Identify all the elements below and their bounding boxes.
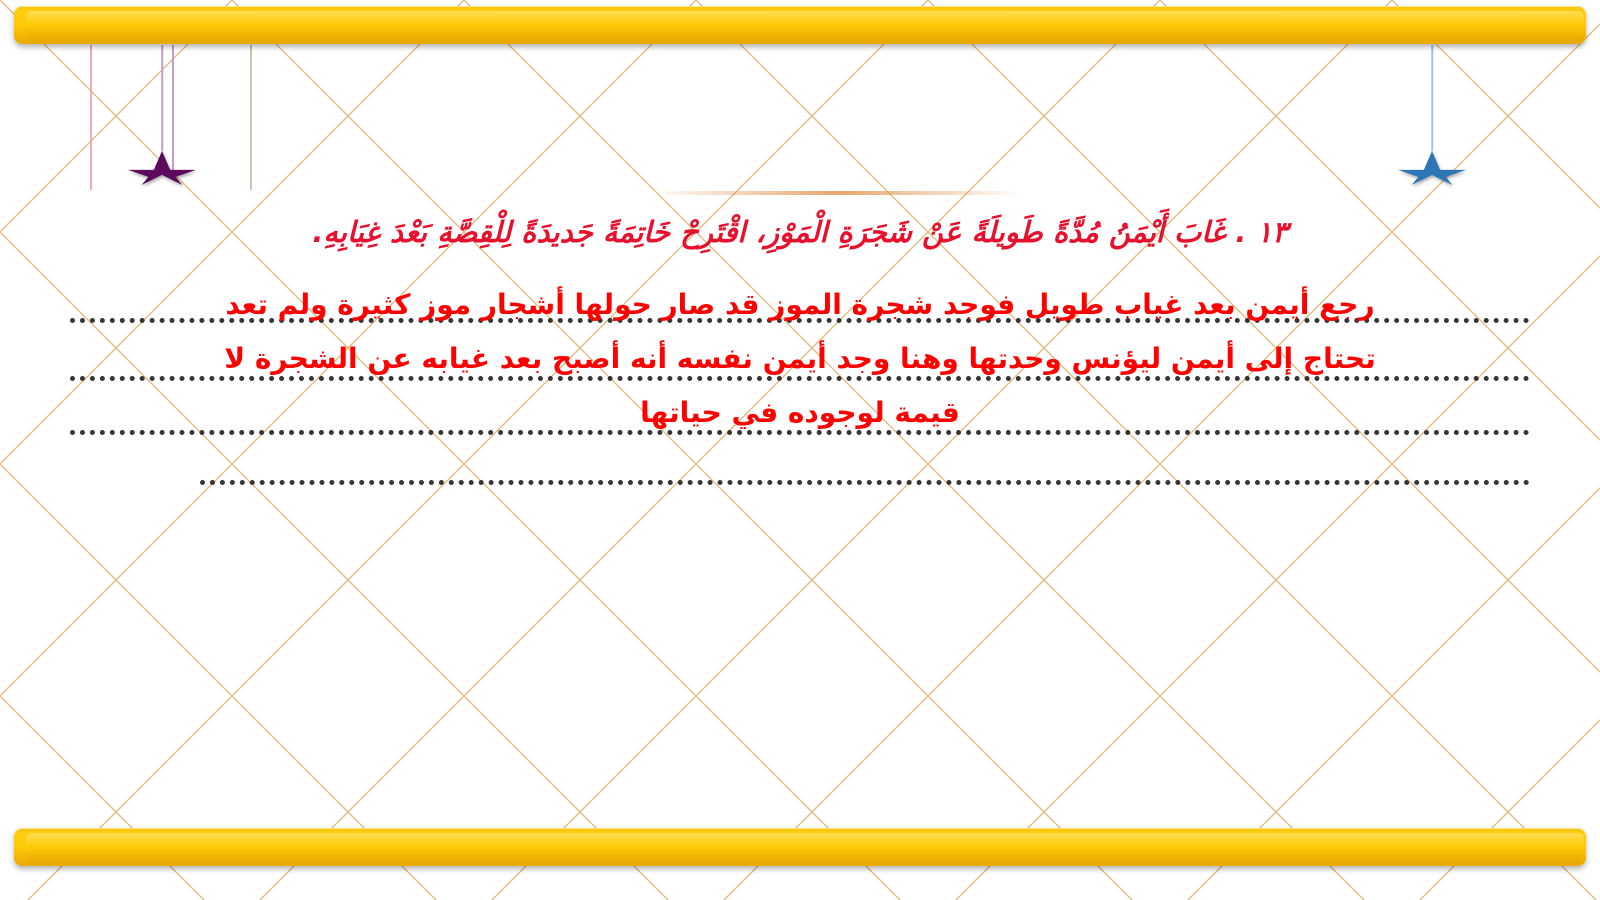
worksheet-slide: ١٣ . غَابَ أَيْمَنُ مُدَّةً طَويلَةً عَن… bbox=[0, 0, 1600, 900]
slide-content: ١٣ . غَابَ أَيْمَنُ مُدَّةً طَويلَةً عَن… bbox=[0, 0, 1600, 900]
answer-area[interactable]: رجع أيمن بعد غياب طويل فوجد شجرة الموز ق… bbox=[0, 272, 1600, 487]
answer-line-1[interactable]: رجع أيمن بعد غياب طويل فوجد شجرة الموز ق… bbox=[60, 290, 1540, 321]
question-divider-rule bbox=[660, 191, 1016, 195]
answer-leader-line-4 bbox=[200, 480, 1530, 485]
answer-leader-line-2 bbox=[70, 376, 1530, 381]
answer-line-3[interactable]: قيمة لوجوده في حياتها bbox=[60, 398, 1540, 429]
answer-line-2[interactable]: تحتاج إلى أيمن ليؤنس وحدتها وهنا وجد أيم… bbox=[60, 344, 1540, 375]
bottom-decorative-bar bbox=[14, 828, 1586, 866]
top-decorative-bar bbox=[14, 6, 1586, 44]
question-text: ١٣ . غَابَ أَيْمَنُ مُدَّةً طَويلَةً عَن… bbox=[60, 214, 1540, 250]
answer-leader-line-3 bbox=[70, 430, 1530, 435]
